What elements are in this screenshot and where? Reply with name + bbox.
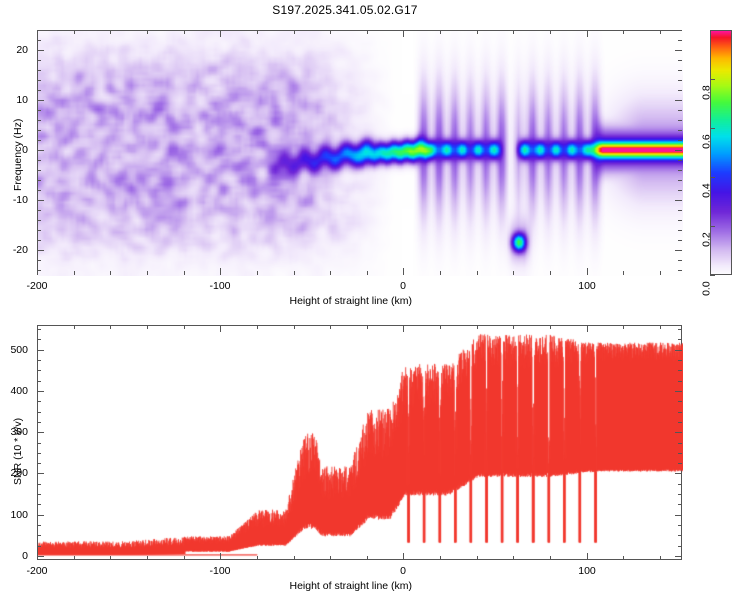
axis-tick — [550, 271, 551, 275]
axis-tick — [660, 30, 661, 34]
axis-tick — [37, 494, 41, 495]
axis-tick — [675, 556, 682, 557]
axis-tick — [675, 391, 682, 392]
axis-tick — [37, 329, 41, 330]
axis-tick — [294, 30, 295, 34]
axis-tick — [74, 556, 75, 560]
axis-tick — [678, 535, 682, 536]
colorbar-tick-label: 0.4 — [701, 183, 713, 198]
y-tick-label: -10 — [0, 194, 28, 206]
axis-tick — [678, 422, 682, 423]
axis-tick — [257, 325, 258, 329]
axis-tick — [147, 556, 148, 560]
axis-tick — [678, 270, 682, 271]
axis-tick — [678, 30, 682, 31]
axis-tick — [147, 325, 148, 329]
axis-tick — [37, 535, 41, 536]
axis-tick — [37, 40, 41, 41]
axis-tick — [678, 70, 682, 71]
axis-tick — [678, 210, 682, 211]
axis-tick — [220, 325, 221, 332]
axis-tick — [330, 556, 331, 560]
axis-tick — [678, 504, 682, 505]
axis-tick — [220, 553, 221, 560]
axis-tick — [37, 110, 41, 111]
axis-tick — [37, 230, 41, 231]
axis-tick — [37, 70, 41, 71]
axis-tick — [367, 30, 368, 34]
axis-tick — [110, 556, 111, 560]
axis-tick — [330, 325, 331, 329]
axis-tick — [220, 268, 221, 275]
axis-tick — [37, 391, 44, 392]
x-tick-label: -200 — [26, 280, 47, 292]
axis-tick — [678, 370, 682, 371]
axis-tick — [513, 325, 514, 329]
axis-tick — [367, 325, 368, 329]
x-tick-label: 0 — [400, 280, 406, 292]
axis-tick — [37, 240, 41, 241]
axis-tick — [37, 350, 44, 351]
axis-tick — [623, 271, 624, 275]
axis-tick — [675, 50, 682, 51]
axis-tick — [37, 150, 44, 151]
axis-tick — [675, 473, 682, 474]
axis-tick — [550, 30, 551, 34]
axis-tick — [678, 453, 682, 454]
axis-tick — [550, 325, 551, 329]
axis-tick — [37, 30, 38, 37]
snr-x-axis-label: Height of straight line (km) — [290, 580, 413, 592]
axis-tick — [147, 271, 148, 275]
axis-tick — [294, 556, 295, 560]
axis-tick — [37, 120, 41, 121]
axis-tick — [678, 329, 682, 330]
axis-tick — [403, 553, 404, 560]
axis-tick — [37, 200, 44, 201]
x-tick-label: -200 — [26, 565, 47, 577]
axis-tick — [147, 30, 148, 34]
axis-tick — [37, 339, 41, 340]
x-tick-label: 0 — [400, 565, 406, 577]
figure-root: S197.2025.341.05.02.G17 -200-1000100-20-… — [0, 0, 750, 600]
colorbar-tick — [710, 226, 715, 227]
axis-tick — [678, 160, 682, 161]
axis-tick — [678, 381, 682, 382]
axis-tick — [587, 553, 588, 560]
axis-tick — [110, 271, 111, 275]
colorbar-tick-label: 0.6 — [701, 134, 713, 149]
snr-trace — [38, 326, 683, 561]
axis-tick — [184, 30, 185, 34]
axis-tick — [675, 250, 682, 251]
axis-tick — [587, 325, 588, 332]
axis-tick — [660, 271, 661, 275]
axis-tick — [74, 325, 75, 329]
axis-tick — [678, 494, 682, 495]
spectrogram-panel — [37, 30, 682, 275]
axis-tick — [37, 473, 44, 474]
colorbar-tick-label: 0.2 — [701, 232, 713, 247]
axis-tick — [678, 484, 682, 485]
colorbar-tick-label: 0.8 — [701, 85, 713, 100]
axis-tick — [110, 30, 111, 34]
axis-tick — [37, 140, 41, 141]
spectrogram-y-axis-label: Frequency (Hz) — [12, 118, 24, 190]
axis-tick — [37, 381, 41, 382]
axis-tick — [37, 210, 41, 211]
axis-tick — [37, 422, 41, 423]
axis-tick — [477, 271, 478, 275]
axis-tick — [440, 325, 441, 329]
colorbar — [710, 30, 732, 275]
axis-tick — [37, 60, 41, 61]
snr-y-axis-label: SNR (10 * v/v) — [12, 417, 24, 484]
axis-tick — [37, 432, 44, 433]
axis-tick — [623, 30, 624, 34]
y-tick-label: 400 — [0, 385, 28, 397]
axis-tick — [675, 350, 682, 351]
axis-tick — [403, 325, 404, 332]
axis-tick — [37, 170, 41, 171]
axis-tick — [678, 180, 682, 181]
axis-tick — [367, 556, 368, 560]
axis-tick — [675, 432, 682, 433]
axis-tick — [623, 325, 624, 329]
axis-tick — [37, 484, 41, 485]
colorbar-tick — [710, 128, 715, 129]
axis-tick — [257, 30, 258, 34]
axis-tick — [675, 150, 682, 151]
axis-tick — [37, 160, 41, 161]
y-tick-label: 20 — [0, 44, 28, 56]
axis-tick — [37, 360, 41, 361]
axis-tick — [37, 515, 44, 516]
axis-tick — [37, 100, 44, 101]
axis-tick — [678, 463, 682, 464]
axis-tick — [678, 230, 682, 231]
axis-tick — [440, 556, 441, 560]
axis-tick — [37, 30, 41, 31]
axis-tick — [678, 443, 682, 444]
axis-tick — [184, 556, 185, 560]
x-tick-label: -100 — [209, 280, 230, 292]
x-tick-label: 100 — [578, 280, 596, 292]
axis-tick — [678, 190, 682, 191]
axis-tick — [660, 325, 661, 329]
axis-tick — [660, 556, 661, 560]
axis-tick — [675, 515, 682, 516]
axis-tick — [678, 360, 682, 361]
axis-tick — [37, 453, 41, 454]
axis-tick — [367, 271, 368, 275]
axis-tick — [37, 525, 41, 526]
axis-tick — [37, 180, 41, 181]
axis-tick — [550, 556, 551, 560]
axis-tick — [678, 240, 682, 241]
axis-tick — [37, 546, 41, 547]
axis-tick — [403, 30, 404, 37]
axis-tick — [678, 140, 682, 141]
colorbar-tick-label: 0.0 — [701, 281, 713, 296]
axis-tick — [184, 271, 185, 275]
axis-tick — [37, 220, 41, 221]
axis-tick — [74, 30, 75, 34]
axis-tick — [587, 30, 588, 37]
axis-tick — [110, 325, 111, 329]
axis-tick — [513, 271, 514, 275]
axis-tick — [37, 50, 44, 51]
y-tick-label: 10 — [0, 94, 28, 106]
axis-tick — [678, 120, 682, 121]
axis-tick — [513, 556, 514, 560]
axis-tick — [477, 325, 478, 329]
axis-tick — [678, 90, 682, 91]
axis-tick — [37, 190, 41, 191]
y-tick-label: 500 — [0, 344, 28, 356]
axis-tick — [678, 525, 682, 526]
axis-tick — [257, 271, 258, 275]
y-tick-label: 100 — [0, 509, 28, 521]
axis-tick — [477, 556, 478, 560]
axis-tick — [678, 110, 682, 111]
spectrogram-image — [38, 31, 683, 276]
x-tick-label: -100 — [209, 565, 230, 577]
axis-tick — [37, 401, 41, 402]
axis-tick — [678, 546, 682, 547]
figure-title: S197.2025.341.05.02.G17 — [0, 3, 690, 17]
axis-tick — [675, 200, 682, 201]
axis-tick — [678, 60, 682, 61]
axis-tick — [678, 220, 682, 221]
spectrogram-x-axis-label: Height of straight line (km) — [290, 295, 413, 307]
colorbar-tick — [710, 177, 715, 178]
axis-tick — [37, 80, 41, 81]
axis-tick — [37, 504, 41, 505]
y-tick-label: 0 — [0, 550, 28, 562]
axis-tick — [37, 443, 41, 444]
axis-tick — [294, 271, 295, 275]
axis-tick — [294, 325, 295, 329]
axis-tick — [37, 260, 41, 261]
axis-tick — [37, 370, 41, 371]
axis-tick — [440, 30, 441, 34]
axis-tick — [74, 271, 75, 275]
axis-tick — [37, 250, 44, 251]
axis-tick — [37, 130, 41, 131]
x-tick-label: 100 — [578, 565, 596, 577]
axis-tick — [257, 556, 258, 560]
axis-tick — [587, 268, 588, 275]
colorbar-gradient — [711, 31, 732, 275]
axis-tick — [37, 270, 41, 271]
axis-tick — [678, 80, 682, 81]
colorbar-tick — [710, 79, 715, 80]
axis-tick — [330, 30, 331, 34]
axis-tick — [330, 271, 331, 275]
axis-tick — [678, 170, 682, 171]
axis-tick — [678, 260, 682, 261]
axis-tick — [184, 325, 185, 329]
axis-tick — [678, 130, 682, 131]
axis-tick — [37, 412, 41, 413]
axis-tick — [440, 271, 441, 275]
axis-tick — [37, 463, 41, 464]
axis-tick — [678, 401, 682, 402]
axis-tick — [37, 556, 44, 557]
axis-tick — [678, 339, 682, 340]
axis-tick — [403, 268, 404, 275]
colorbar-tick — [710, 275, 715, 276]
y-tick-label: -20 — [0, 244, 28, 256]
axis-tick — [220, 30, 221, 37]
axis-tick — [675, 100, 682, 101]
axis-tick — [678, 40, 682, 41]
axis-tick — [477, 30, 478, 34]
snr-panel — [37, 325, 682, 560]
axis-tick — [678, 412, 682, 413]
axis-tick — [513, 30, 514, 34]
axis-tick — [37, 90, 41, 91]
axis-tick — [623, 556, 624, 560]
